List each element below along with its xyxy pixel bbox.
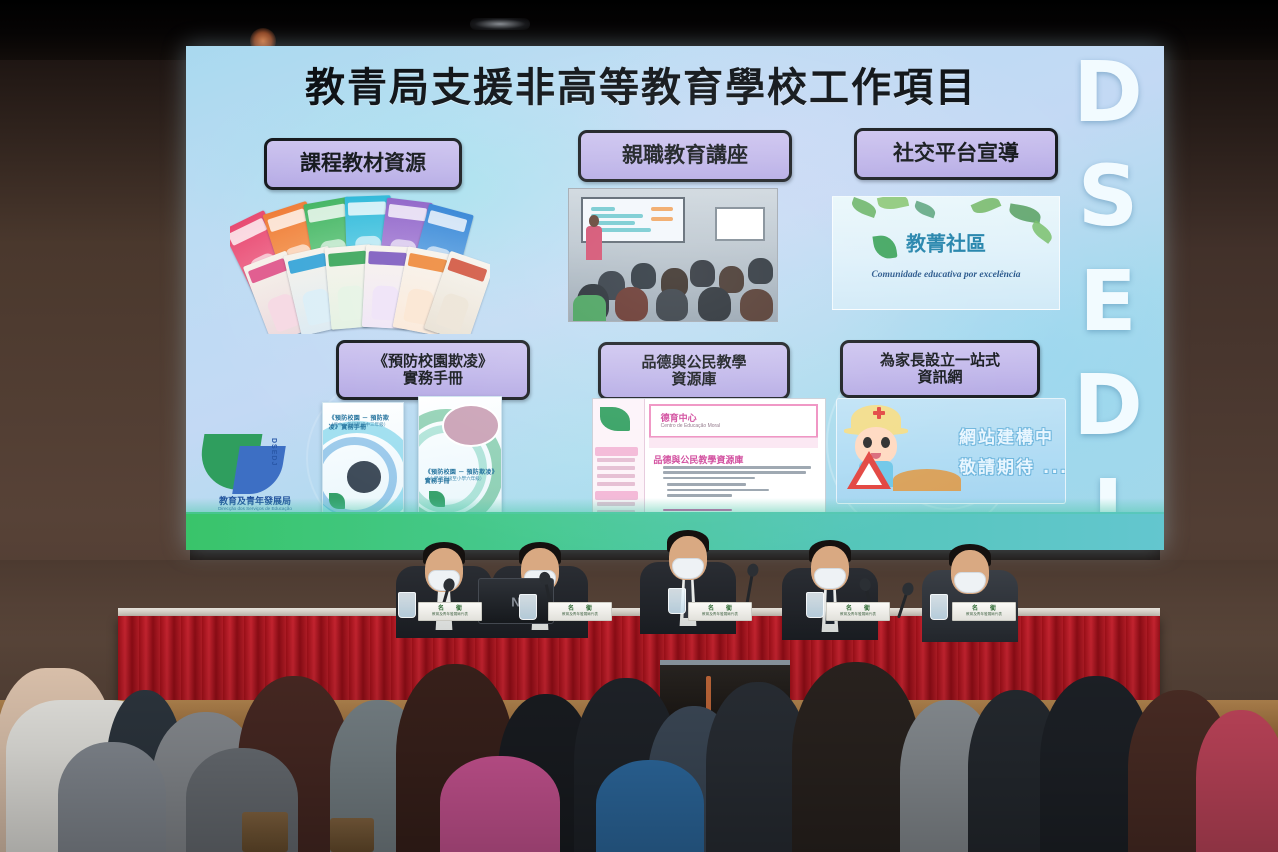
audience-member <box>596 760 704 852</box>
logo-mark-letters: DSEDJ <box>270 438 277 466</box>
nameplate-1: 名 銜 教育及青年發展局代表 <box>418 602 482 621</box>
label-parent-one-stop-portal: 為家長設立一站式 資訊網 <box>840 340 1040 398</box>
label-line-1: 《預防校園欺凌》 <box>373 353 493 370</box>
audience-member <box>1196 710 1278 852</box>
nameplate-title: 教育及青年發展局代表 <box>840 613 876 617</box>
community-leaf-icon <box>872 234 897 261</box>
graphic-education-community: 教菁社區 Comunidade educativa por excelência <box>832 196 1060 310</box>
warning-triangle-icon <box>847 451 891 489</box>
site-header-box: 德育中心 Centro de Educação Moral <box>649 404 818 437</box>
photo-scene: 教青局支援非高等教育學校工作項目 D S E D J 課程教材資源 親職教育講座… <box>0 0 1278 852</box>
brand-letter-s: S <box>1078 160 1139 232</box>
label-curriculum-materials: 課程教材資源 <box>264 138 462 190</box>
construction-line-2: 敬請期待 ... <box>959 453 1066 478</box>
water-glass <box>519 594 537 620</box>
label-social-media-promotion: 社交平台宣導 <box>854 128 1058 180</box>
water-glass <box>806 592 824 618</box>
handbook-subtitle: （初中一年級至初中三年級） <box>329 422 398 428</box>
logo-blue-arc <box>232 446 286 494</box>
audience-member <box>58 742 166 852</box>
nameplate-title: 教育及青年發展局代表 <box>702 613 738 617</box>
water-glass <box>930 594 948 620</box>
construction-line-1: 網站建構中 <box>959 423 1054 448</box>
label-line-2: 資訊網 <box>917 369 962 386</box>
label-parent-education-seminar: 親職教育講座 <box>578 130 792 182</box>
label-line-2: 實務手冊 <box>403 370 463 387</box>
label-anti-bullying-handbook: 《預防校園欺凌》 實務手冊 <box>336 340 530 400</box>
photo-parent-seminar <box>568 188 778 322</box>
projection-screen: 教青局支援非高等教育學校工作項目 D S E D J 課程教材資源 親職教育講座… <box>186 46 1164 550</box>
site-navbar[interactable] <box>649 437 818 449</box>
brand-letter-d2: D <box>1073 369 1143 441</box>
audience-member <box>440 756 560 852</box>
handbook-subtitle: （小學四年級至小學六年級） <box>425 476 496 482</box>
handbook-cover-primary: 《預防校園 － 預防欺凌》實務手冊 （小學四年級至小學六年級） <box>418 396 502 514</box>
label-line-1: 品德與公民教學 <box>641 354 746 371</box>
community-name-pt: Comunidade educativa por excelência <box>871 270 1020 280</box>
laptop[interactable] <box>478 578 554 624</box>
nameplate-5: 名 銜 教育及青年發展局代表 <box>952 602 1016 621</box>
site-name-pt: Centro de Educação Moral <box>661 423 720 429</box>
nameplate-title: 教育及青年發展局代表 <box>562 613 598 617</box>
site-heading: 品德與公民教學資源庫 <box>653 453 743 466</box>
nameplate-title: 教育及青年發展局代表 <box>432 613 468 617</box>
label-moral-civic-resource-bank: 品德與公民教學 資源庫 <box>598 342 790 400</box>
audience-seat <box>330 818 374 852</box>
brand-letter-d1: D <box>1073 56 1143 128</box>
label-line-2: 資源庫 <box>671 371 716 388</box>
audience-seat <box>242 812 288 852</box>
label-line-1: 為家長設立一站式 <box>880 352 1000 369</box>
nameplate-4: 名 銜 教育及青年發展局代表 <box>826 602 890 621</box>
graphic-site-under-construction: 網站建構中 敬請期待 ... <box>836 398 1066 504</box>
nameplate-title: 教育及青年發展局代表 <box>966 613 1002 617</box>
slide-title: 教青局支援非高等教育學校工作項目 <box>246 68 1036 108</box>
slide-side-brand: D S E D J <box>1060 56 1156 546</box>
photo-textbook-fan <box>230 194 490 334</box>
brand-letter-e: E <box>1079 265 1136 337</box>
water-glass <box>668 588 686 614</box>
nameplate-2: 名 銜 教育及青年發展局代表 <box>548 602 612 621</box>
nameplate-3: 名 銜 教育及青年發展局代表 <box>688 602 752 621</box>
community-name-zh: 教菁社區 <box>906 227 986 256</box>
water-glass <box>398 592 416 618</box>
ceiling-light-rig-icon <box>470 18 530 30</box>
